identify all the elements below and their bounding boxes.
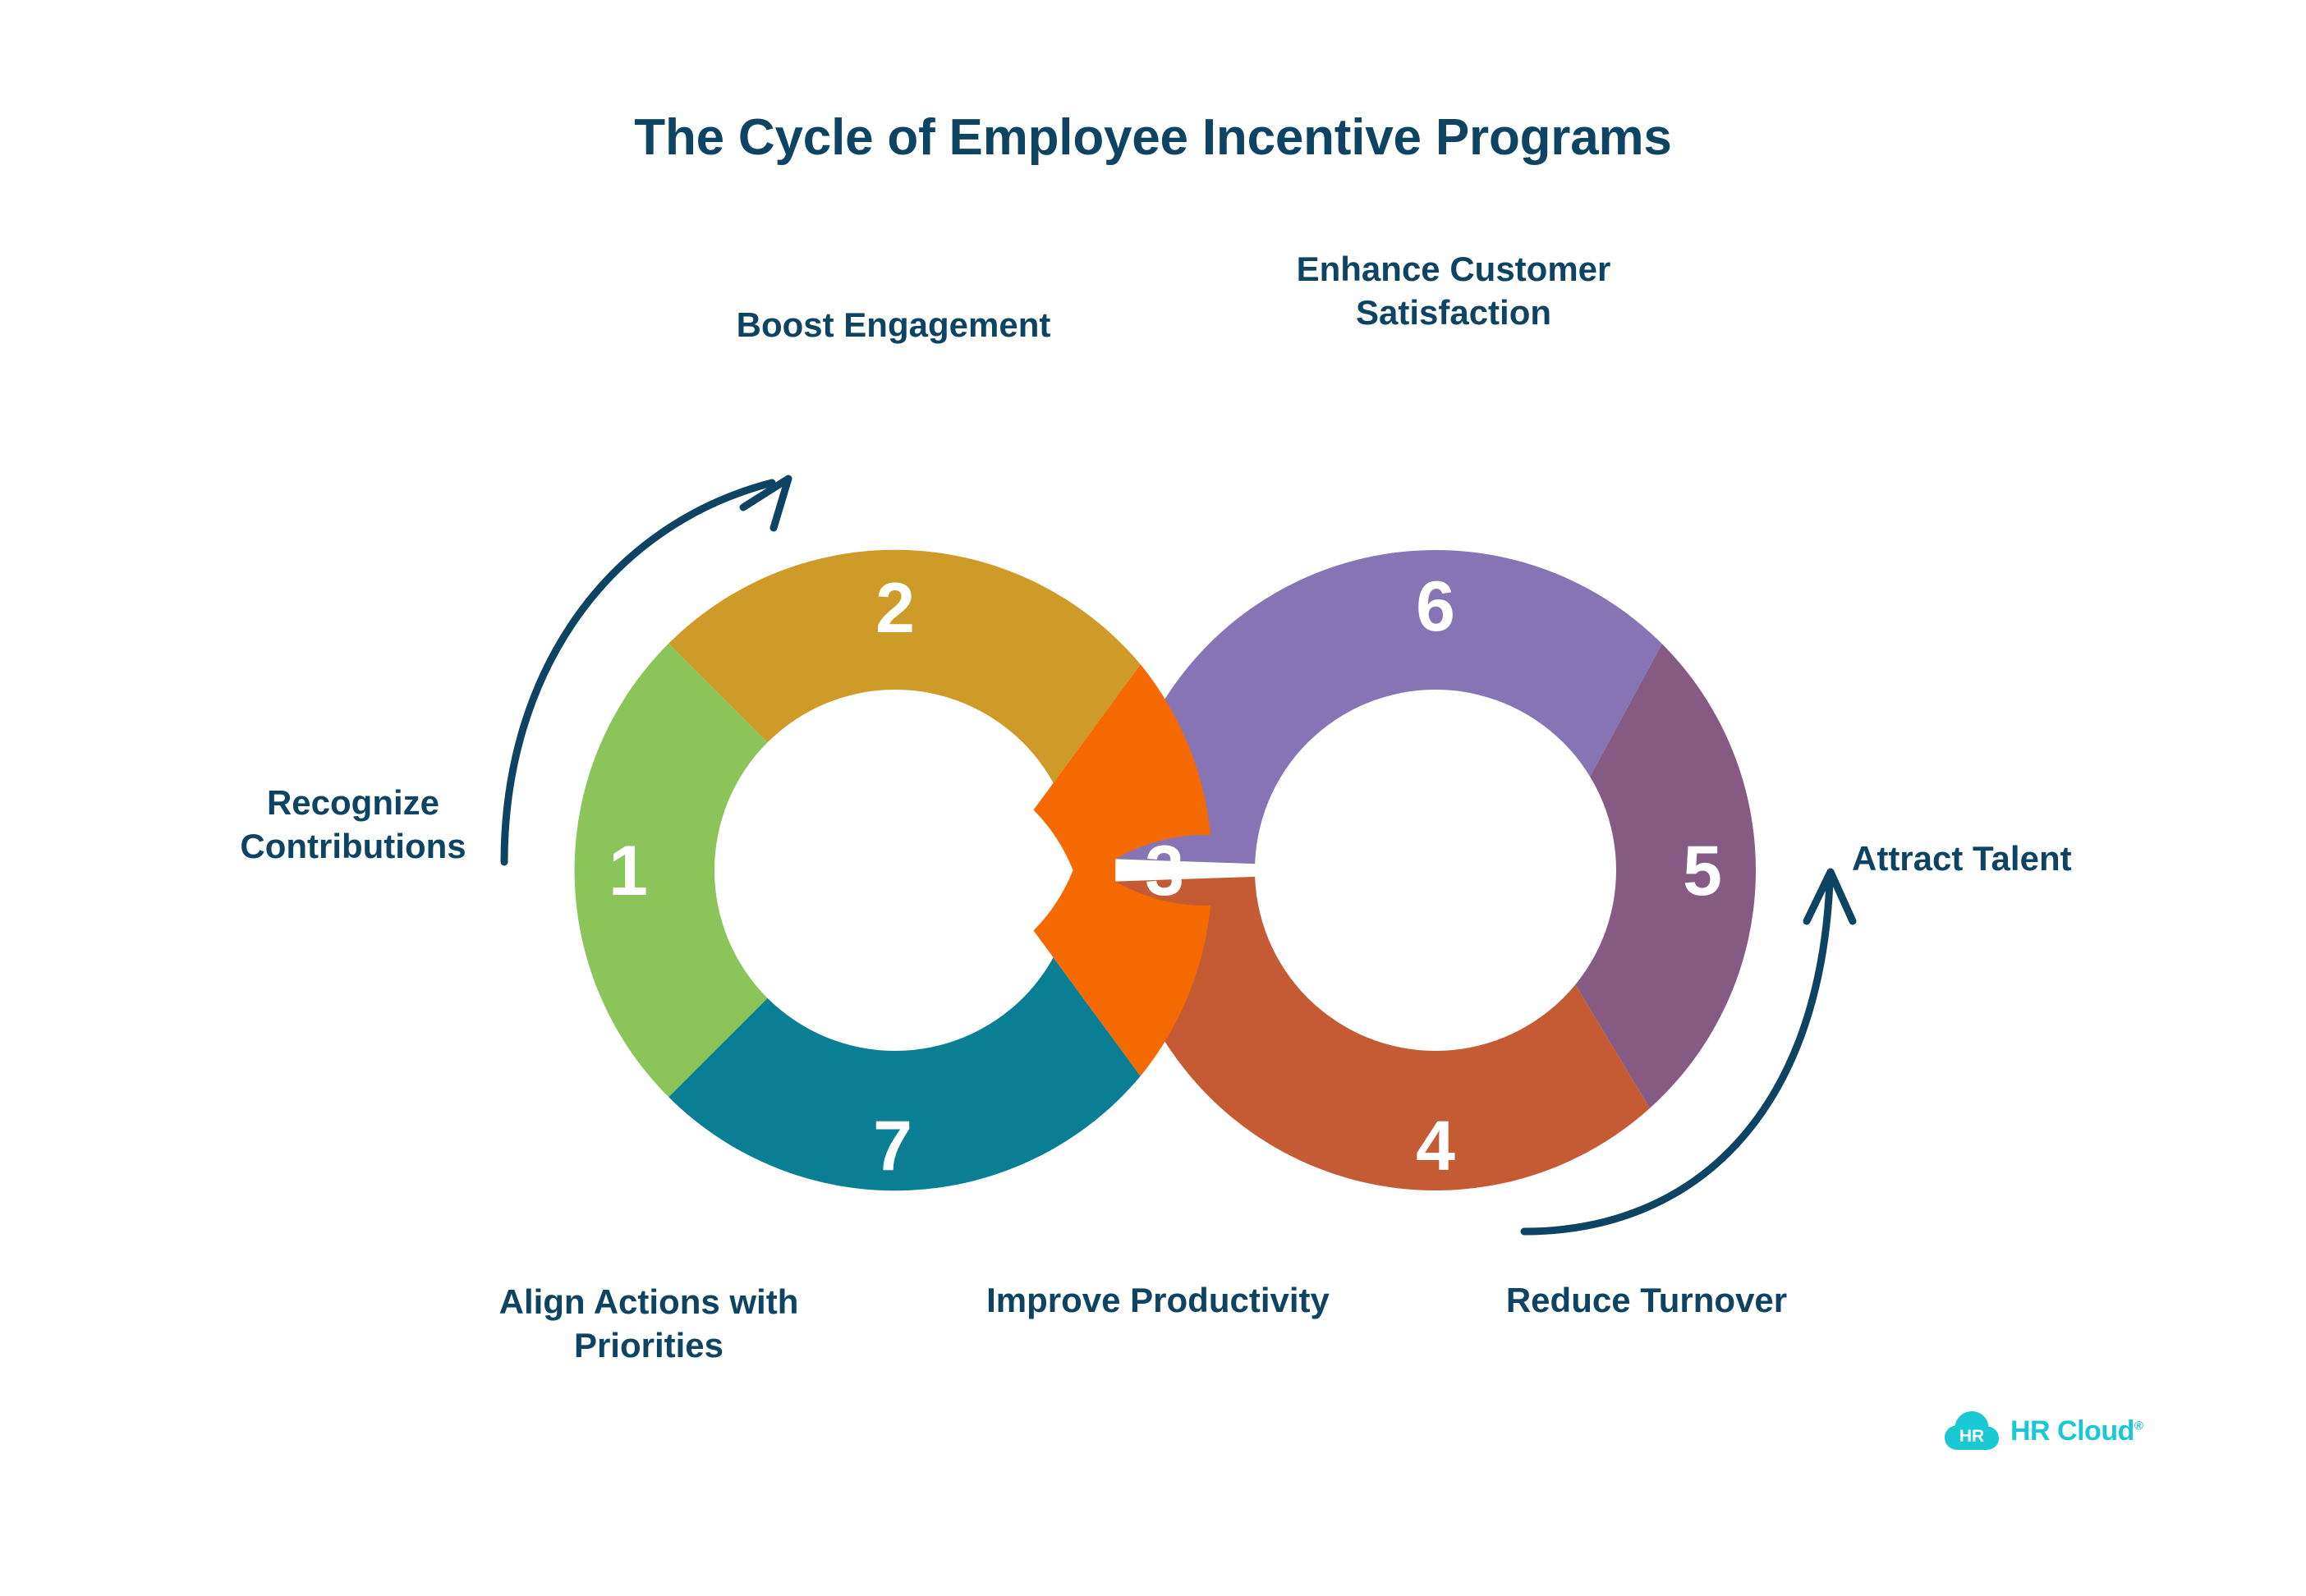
left-donut-hole (714, 690, 1076, 1051)
segment-number-7: 7 (873, 1107, 912, 1186)
page-title: The Cycle of Employee Incentive Programs (0, 108, 2306, 167)
hr-cloud-logo[interactable]: HR HR Cloud® (1945, 1410, 2143, 1452)
label-recognize-contributions: Recognize Contributions (222, 782, 485, 868)
label-enhance-customer-satisfaction: Enhance Customer Satisfaction (1289, 248, 1618, 334)
infographic-canvas: The Cycle of Employee Incentive Programs… (0, 0, 2306, 1596)
segment-number-1: 1 (609, 832, 648, 910)
registered-trademark-icon: ® (2134, 1419, 2143, 1433)
segment-number-2: 2 (875, 569, 915, 648)
segment-number-5: 5 (1683, 832, 1722, 910)
label-reduce-turnover: Reduce Turnover (1359, 1279, 1934, 1323)
label-attract-talent: Attract Talent (1852, 837, 2180, 881)
segment-number-3: 3 (1145, 832, 1184, 910)
cloud-icon-hr-text: HR (1959, 1427, 1984, 1446)
label-boost-engagement: Boost Engagement (729, 304, 1058, 347)
segment-number-6: 6 (1416, 567, 1455, 646)
hr-cloud-wordmark: HR Cloud® (2010, 1415, 2143, 1447)
label-improve-productivity: Improve Productivity (969, 1279, 1347, 1323)
label-align-actions-with-priorities: Align Actions with Priorities (485, 1281, 813, 1367)
segment-number-4: 4 (1416, 1107, 1455, 1186)
hr-cloud-wordmark-text: HR Cloud (2010, 1415, 2134, 1447)
cloud-icon: HR (1945, 1410, 1999, 1452)
right-donut-hole (1255, 690, 1616, 1051)
